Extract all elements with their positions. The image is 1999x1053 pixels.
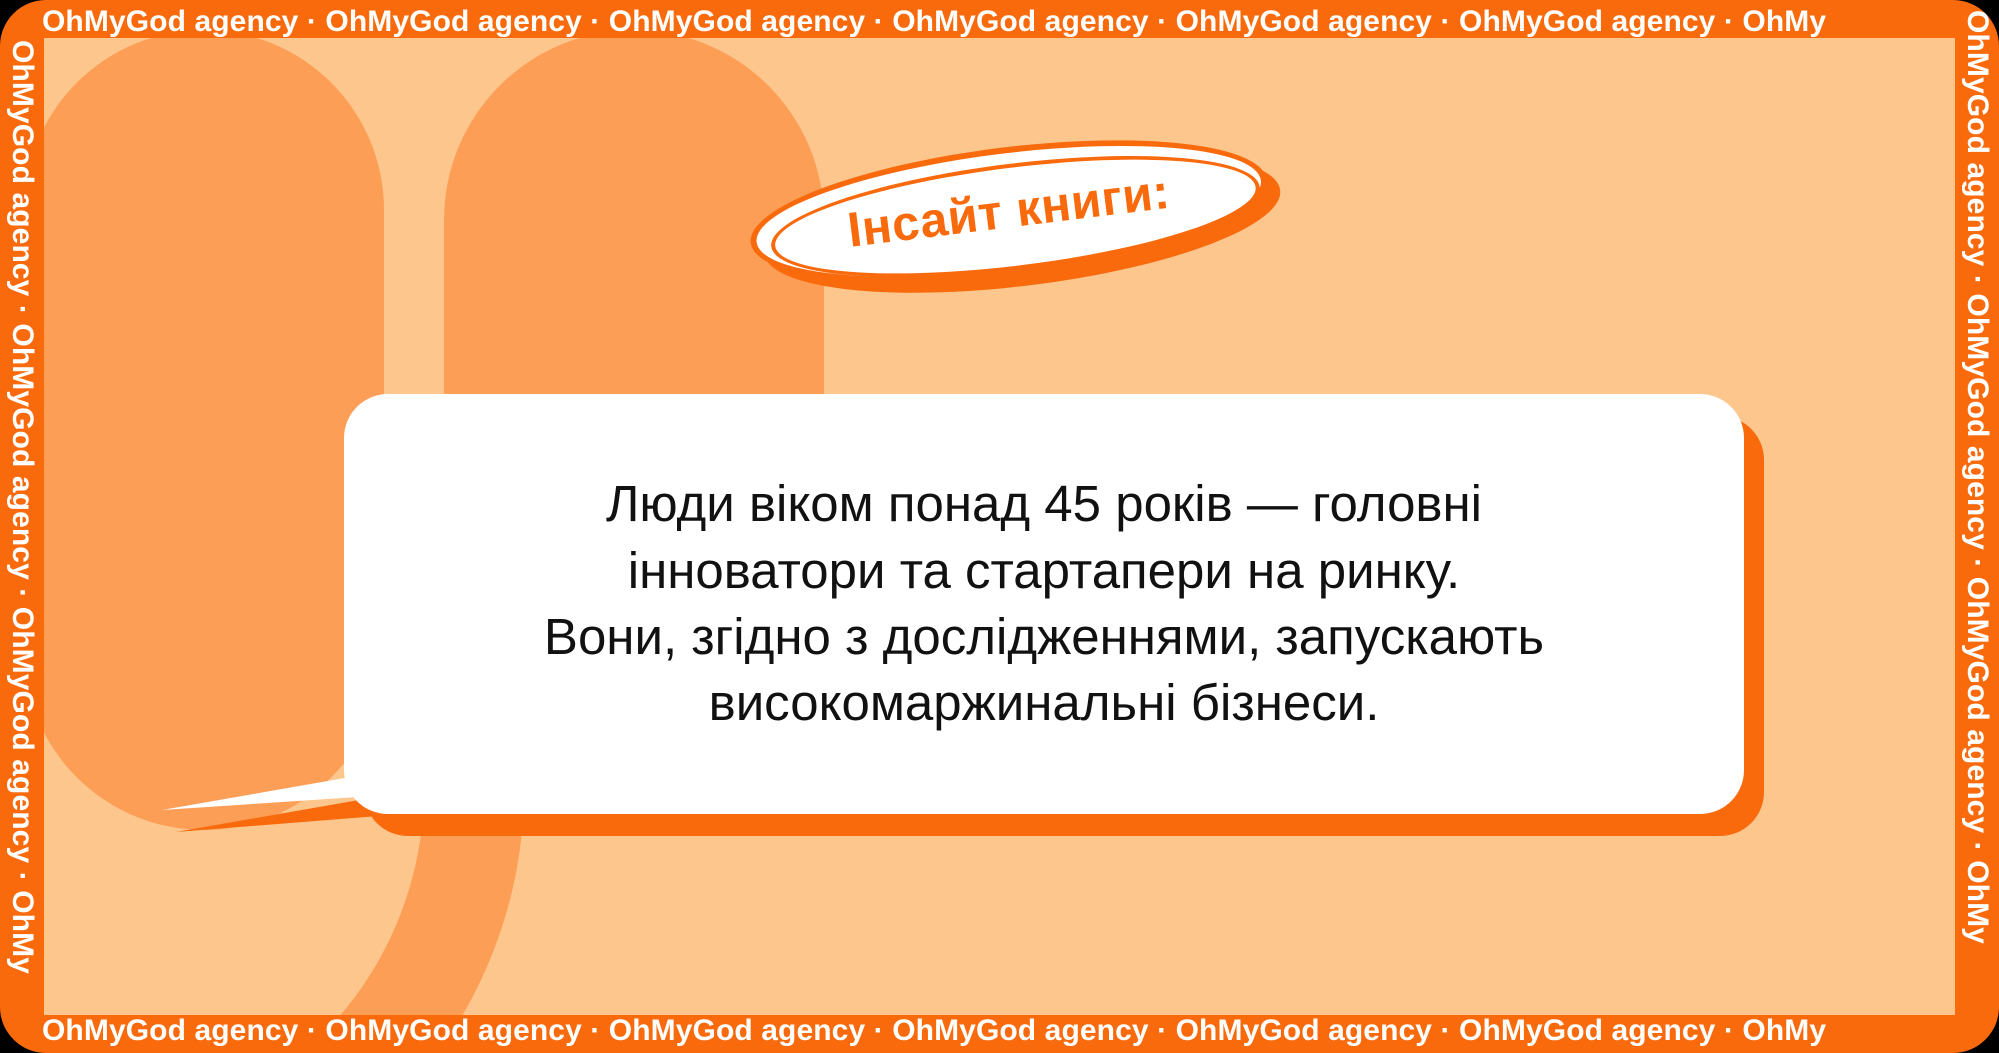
quote-card: Люди віком понад 45 років — головні інно… — [344, 394, 1744, 814]
quote-line-4: високомаржинальні бізнеси. — [544, 670, 1544, 736]
slide-canvas: Інсайт книги: Люди віком понад 45 років … — [44, 38, 1955, 1015]
slide-root: OhMyGod agency · OhMyGod agency · OhMyGo… — [0, 0, 1999, 1053]
marquee-left-text: OhMyGod agency · OhMyGod agency · OhMyGo… — [0, 40, 44, 974]
insight-badge: Інсайт книги: — [743, 114, 1297, 329]
quote-line-2: інноватори та стартапери на ринку. — [544, 538, 1544, 604]
marquee-left: OhMyGod agency · OhMyGod agency · OhMyGo… — [0, 0, 44, 1053]
marquee-right-text: OhMyGod agency · OhMyGod agency · OhMyGo… — [1955, 10, 1999, 944]
quote-text: Люди віком понад 45 років — головні інно… — [484, 471, 1604, 736]
orange-frame: OhMyGod agency · OhMyGod agency · OhMyGo… — [0, 0, 1999, 1053]
marquee-right: OhMyGod agency · OhMyGod agency · OhMyGo… — [1955, 0, 1999, 1053]
marquee-bottom: OhMyGod agency · OhMyGod agency · OhMyGo… — [0, 1009, 1999, 1053]
quote-line-1: Люди віком понад 45 років — головні — [544, 471, 1544, 537]
quote-line-3: Вони, згідно з дослідженнями, запускають — [544, 604, 1544, 670]
marquee-bottom-text: OhMyGod agency · OhMyGod agency · OhMyGo… — [42, 1009, 1826, 1053]
